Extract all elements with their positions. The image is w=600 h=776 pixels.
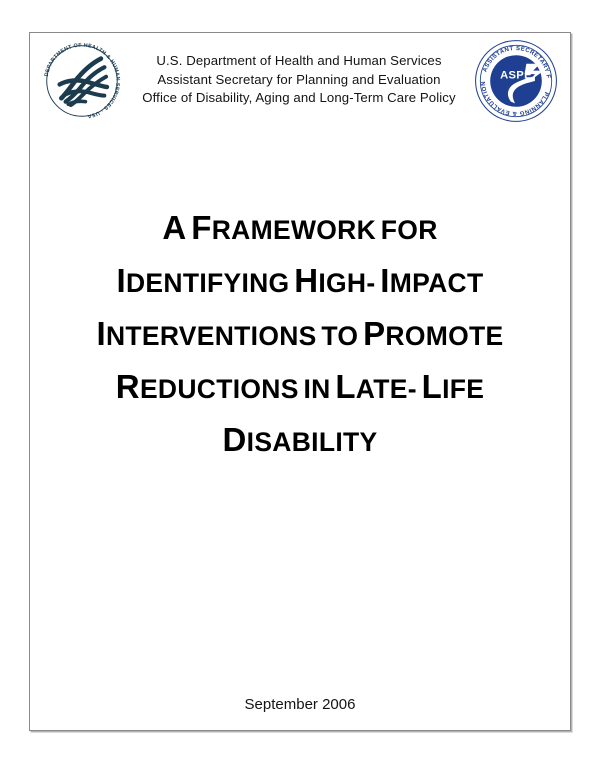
title-initial-cap: R [116,368,140,405]
document-page: DEPARTMENT OF HEALTH & HUMAN SERVICES · … [29,32,571,731]
publication-date: September 2006 [30,696,570,713]
title-initial-cap: I [117,262,126,299]
aspe-seal-icon: ASSISTANT SECRETARY FOR PLANNING & EVALU… [473,38,559,124]
title-line-3: INTERVENTIONS TO PROMOTE [30,311,570,364]
title-smallcaps: IFE [442,374,484,404]
title-smallcaps: RAMEWORK [212,215,376,245]
title-initial-cap: L [335,368,355,405]
title-smallcaps: NTERVENTIONS [106,321,317,351]
masthead-text: U.S. Department of Health and Human Serv… [125,52,473,110]
title-initial-cap: I [96,315,105,352]
title-smallcaps: ROMOTE [385,321,503,351]
title-smallcaps: MPACT [390,268,484,298]
document-title: A FRAMEWORK FOR IDENTIFYING HIGH- IMPACT… [30,205,570,470]
masthead-line-2: Assistant Secretary for Planning and Eva… [125,71,473,90]
title-line-5: DISABILITY [30,417,570,470]
title-line-1: A FRAMEWORK FOR [30,205,570,258]
title-smallcaps: EDUCTIONS [140,374,299,404]
title-initial-cap: D [223,421,247,458]
hhs-seal-icon: DEPARTMENT OF HEALTH & HUMAN SERVICES · … [39,38,125,124]
title-initial-cap: I [380,262,389,299]
title-initial-cap: H [294,262,318,299]
title-initial-cap: F [191,209,211,246]
title-smallcaps: IGH- [318,268,375,298]
title-smallcaps: FOR [381,215,438,245]
title-initial-cap: L [422,368,442,405]
title-smallcaps: IN [303,374,330,404]
aspe-acronym: ASPE [500,69,532,81]
title-line-4: REDUCTIONS IN LATE- LIFE [30,364,570,417]
title-smallcaps: ATE- [356,374,417,404]
title-smallcaps: TO [321,321,358,351]
masthead-line-1: U.S. Department of Health and Human Serv… [125,52,473,71]
title-smallcaps: DENTIFYING [126,268,289,298]
title-line-2: IDENTIFYING HIGH- IMPACT [30,258,570,311]
title-smallcaps: ISABILITY [247,427,378,457]
masthead: DEPARTMENT OF HEALTH & HUMAN SERVICES · … [30,33,570,129]
title-initial-cap: P [363,315,385,352]
masthead-line-3: Office of Disability, Aging and Long-Ter… [125,89,473,108]
title-initial-cap: A [162,209,186,246]
